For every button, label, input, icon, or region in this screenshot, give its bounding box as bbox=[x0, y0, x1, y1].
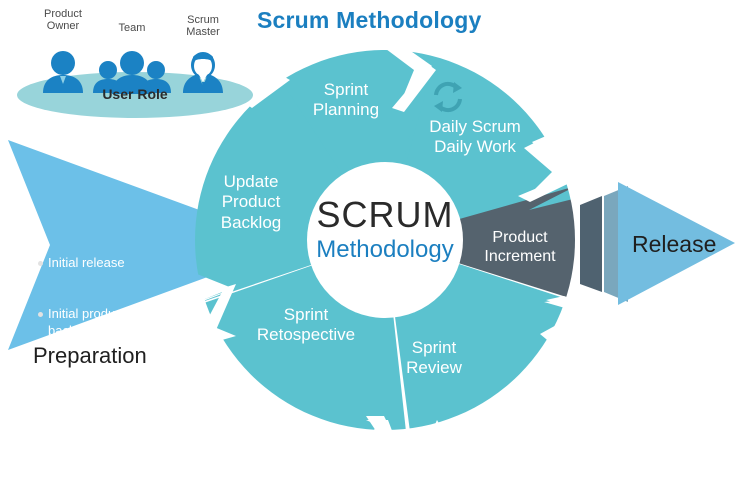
segment-label-sprint-retrospective: Sprint Retospective bbox=[241, 305, 371, 346]
segment-label-sprint-review: Sprint Review bbox=[386, 338, 482, 379]
segment-label-update-product-backlog: Update Product Backlog bbox=[203, 172, 299, 233]
preparation-bullet-text: Initial release bbox=[48, 255, 125, 271]
hub-secondary-label: Methodology bbox=[297, 236, 473, 264]
hub-primary-label: SCRUM bbox=[305, 194, 465, 235]
segment-label-product-increment: Product Increment bbox=[472, 228, 568, 266]
role-label-product-owner: Product Owner bbox=[30, 8, 96, 33]
segment-label-sprint-planning: Sprint Planning bbox=[296, 80, 396, 121]
role-label-team: Team bbox=[104, 22, 160, 34]
bullet-dot-icon bbox=[38, 312, 43, 317]
release-label: Release bbox=[632, 231, 716, 257]
preparation-title: Preparation bbox=[33, 343, 147, 368]
role-label-scrum-master: Scrum Master bbox=[175, 14, 231, 39]
list-item: Initial release bbox=[38, 255, 178, 271]
user-role-label: User Role bbox=[75, 86, 195, 102]
list-item: Initial product backlog bbox=[38, 306, 178, 339]
page-title: Scrum Methodology bbox=[257, 7, 481, 33]
preparation-bullet-text: Initial product backlog bbox=[48, 306, 125, 339]
segment-label-daily-scrum: Daily Scrum Daily Work bbox=[410, 117, 540, 158]
bullet-dot-icon bbox=[38, 261, 43, 266]
scrum-methodology-diagram: Product Owner Team Scrum Master User Rol… bbox=[0, 0, 750, 500]
